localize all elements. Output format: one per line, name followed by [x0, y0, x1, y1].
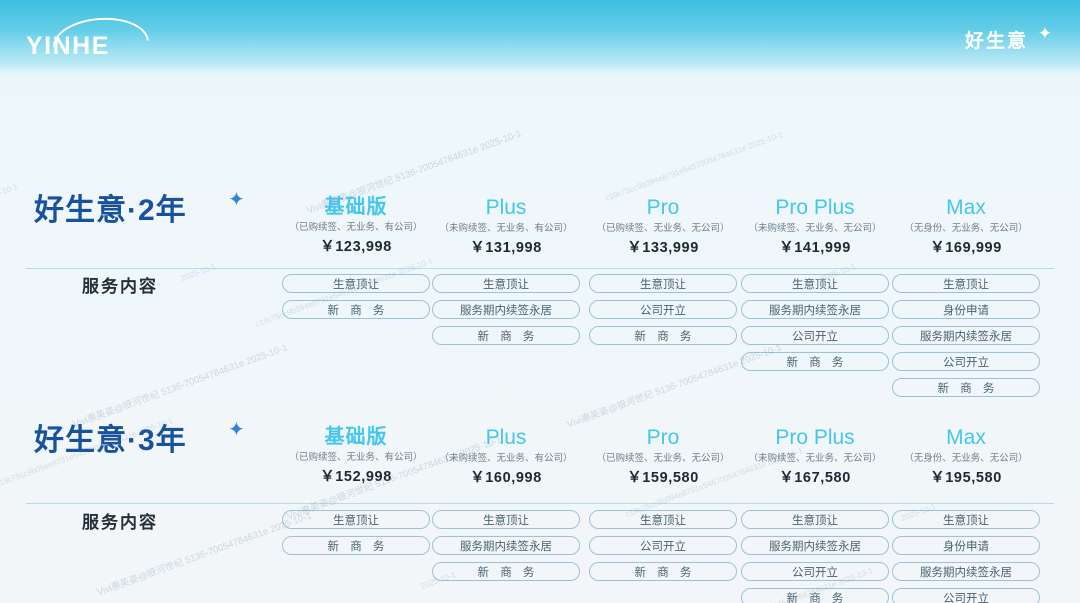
feature-pill[interactable]: 公司开立: [741, 326, 889, 345]
logo-text: YINHE: [26, 34, 110, 59]
feature-pill[interactable]: 生意顶让: [589, 274, 737, 293]
plan-note: （未购续签、无业务、无公司）: [739, 223, 891, 234]
feature-pill[interactable]: 公司开立: [892, 588, 1040, 603]
plan-header-basic[interactable]: 基础版 （已购续签、无业务、有公司） ￥152,998: [280, 426, 432, 485]
section-divider: [26, 268, 1054, 269]
feature-pill[interactable]: 新 商 务: [741, 352, 889, 371]
feature-list-basic: 生意顶让 新 商 务: [280, 510, 432, 555]
plan-header-plus[interactable]: Plus （未购续签、无业务、有公司） ￥160,998: [430, 426, 582, 486]
sparkle-icon: ✦: [1038, 25, 1052, 42]
feature-pill[interactable]: 服务期内续签永居: [741, 536, 889, 555]
feature-pill[interactable]: 服务期内续签永居: [892, 562, 1040, 581]
plan-note: （已购续签、无业务、无公司）: [587, 453, 739, 464]
banner-brand-label: 好生意: [965, 32, 1028, 51]
plan-price: ￥169,999: [890, 241, 1042, 256]
feature-list-max: 生意顶让 身份申请 服务期内续签永居 公司开立 新 商 务: [890, 274, 1042, 397]
feature-pill[interactable]: 新 商 务: [589, 326, 737, 345]
section-title: 好生意·2年: [34, 196, 187, 226]
plan-header-pro-plus[interactable]: Pro Plus （未购续签、无业务、无公司） ￥141,999: [739, 196, 891, 256]
plan-price: ￥152,998: [280, 470, 432, 485]
plan-price: ￥133,999: [587, 241, 739, 256]
feature-pill[interactable]: 身份申请: [892, 300, 1040, 319]
plan-header-max[interactable]: Max （无身份、无业务、无公司） ￥169,999: [890, 196, 1042, 256]
watermark-text: 2025-10-1: [180, 262, 217, 283]
plan-header-plus[interactable]: Plus （未购续签、无业务、有公司） ￥131,998: [430, 196, 582, 256]
feature-pill[interactable]: 公司开立: [589, 300, 737, 319]
pricing-sheet: Vivi惠英姿@银河世纪 5136-70054784631e 2025-10-1…: [0, 78, 1080, 603]
plan-note: （未购续签、无业务、有公司）: [430, 453, 582, 464]
plan-header-pro-plus[interactable]: Pro Plus （未购续签、无业务、无公司） ￥167,580: [739, 426, 891, 486]
watermark-text: Vivi惠英姿@银河世纪 5136-70054784631e 2025-10-1: [70, 340, 289, 431]
plan-note: （已购续签、无业务、无公司）: [587, 223, 739, 234]
section-divider: [26, 503, 1054, 504]
feature-pill[interactable]: 生意顶让: [892, 510, 1040, 529]
feature-pill[interactable]: 新 商 务: [282, 300, 430, 319]
plan-name: Max: [890, 196, 1042, 219]
plan-price: ￥141,999: [739, 241, 891, 256]
feature-pill[interactable]: 新 商 务: [282, 536, 430, 555]
plan-price: ￥159,580: [587, 471, 739, 486]
feature-pill[interactable]: 新 商 务: [432, 326, 580, 345]
top-banner: YINHE 好生意 ✦: [0, 0, 1080, 78]
feature-pill[interactable]: 新 商 务: [589, 562, 737, 581]
feature-list-pro-plus: 生意顶让 服务期内续签永居 公司开立 新 商 务: [739, 510, 891, 603]
plan-name: Plus: [430, 196, 582, 219]
feature-list-basic: 生意顶让 新 商 务: [280, 274, 432, 319]
feature-pill[interactable]: 身份申请: [892, 536, 1040, 555]
feature-pill[interactable]: 生意顶让: [432, 274, 580, 293]
plan-name: 基础版: [280, 196, 432, 218]
plan-note: （未购续签、无业务、有公司）: [430, 223, 582, 234]
feature-list-plus: 生意顶让 服务期内续签永居 新 商 务: [430, 510, 582, 581]
plan-note: （已购续签、无业务、有公司）: [280, 222, 432, 233]
feature-pill[interactable]: 新 商 务: [892, 378, 1040, 397]
sparkle-icon: ✦: [228, 190, 245, 210]
feature-pill[interactable]: 新 商 务: [432, 562, 580, 581]
plan-header-pro[interactable]: Pro （已购续签、无业务、无公司） ￥133,999: [587, 196, 739, 256]
plan-header-basic[interactable]: 基础版 （已购续签、无业务、有公司） ￥123,998: [280, 196, 432, 255]
feature-pill[interactable]: 公司开立: [589, 536, 737, 555]
feature-list-pro: 生意顶让 公司开立 新 商 务: [587, 510, 739, 581]
plan-name: Pro Plus: [739, 196, 891, 219]
section-title: 好生意·3年: [34, 426, 187, 456]
plan-header-pro[interactable]: Pro （已购续签、无业务、无公司） ￥159,580: [587, 426, 739, 486]
sparkle-icon: ✦: [228, 420, 245, 440]
plan-name: Max: [890, 426, 1042, 449]
feature-pill[interactable]: 服务期内续签永居: [432, 536, 580, 555]
plan-price: ￥131,998: [430, 241, 582, 256]
feature-pill[interactable]: 生意顶让: [282, 510, 430, 529]
feature-pill[interactable]: 生意顶让: [432, 510, 580, 529]
feature-pill[interactable]: 生意顶让: [892, 274, 1040, 293]
plan-name: Pro Plus: [739, 426, 891, 449]
feature-list-max: 生意顶让 身份申请 服务期内续签永居 公司开立 新 商 务: [890, 510, 1042, 603]
plan-note: （已购续签、无业务、有公司）: [280, 452, 432, 463]
plan-price: ￥160,998: [430, 471, 582, 486]
feature-pill[interactable]: 生意顶让: [741, 510, 889, 529]
plan-name: Plus: [430, 426, 582, 449]
plan-name: Pro: [587, 196, 739, 219]
service-content-label: 服务内容: [82, 278, 158, 295]
plan-note: （无身份、无业务、无公司）: [890, 453, 1042, 464]
plan-name: 基础版: [280, 426, 432, 448]
feature-pill[interactable]: 生意顶让: [589, 510, 737, 529]
feature-list-pro: 生意顶让 公司开立 新 商 务: [587, 274, 739, 345]
feature-pill[interactable]: 公司开立: [892, 352, 1040, 371]
feature-pill[interactable]: 生意顶让: [741, 274, 889, 293]
feature-pill[interactable]: 生意顶让: [282, 274, 430, 293]
watermark-text: c19c75cc9b094e8791e54570054784631e 2025-…: [604, 130, 784, 203]
watermark-text: 2025-10-1: [0, 182, 19, 203]
plan-header-max[interactable]: Max （无身份、无业务、无公司） ￥195,580: [890, 426, 1042, 486]
feature-list-plus: 生意顶让 服务期内续签永居 新 商 务: [430, 274, 582, 345]
feature-pill[interactable]: 公司开立: [741, 562, 889, 581]
feature-pill[interactable]: 服务期内续签永居: [892, 326, 1040, 345]
feature-pill[interactable]: 服务期内续签永居: [432, 300, 580, 319]
plan-note: （无身份、无业务、无公司）: [890, 223, 1042, 234]
plan-price: ￥123,998: [280, 240, 432, 255]
yinhe-logo: YINHE: [26, 18, 166, 64]
plan-name: Pro: [587, 426, 739, 449]
service-content-label: 服务内容: [82, 514, 158, 531]
feature-pill[interactable]: 服务期内续签永居: [741, 300, 889, 319]
plan-price: ￥195,580: [890, 471, 1042, 486]
feature-pill[interactable]: 新 商 务: [741, 588, 889, 603]
plan-note: （未购续签、无业务、无公司）: [739, 453, 891, 464]
plan-price: ￥167,580: [739, 471, 891, 486]
feature-list-pro-plus: 生意顶让 服务期内续签永居 公司开立 新 商 务: [739, 274, 891, 371]
